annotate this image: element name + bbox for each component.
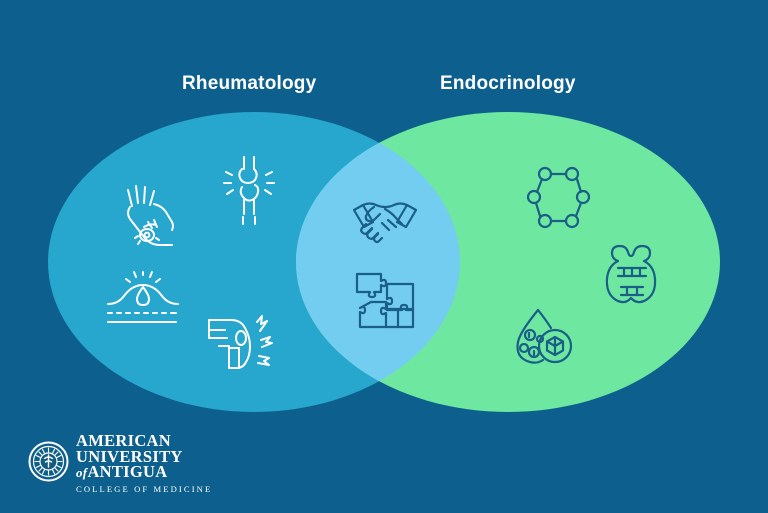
thyroid-gland-icon [605, 243, 659, 305]
aua-logo: AMERICAN UNIVERSITY ofANTIGUA COLLEGE OF… [28, 433, 212, 496]
logo-line-college: COLLEGE OF MEDICINE [76, 483, 212, 496]
logo-line-antigua: ofANTIGUA [76, 464, 212, 481]
aua-seal-icon [28, 441, 69, 487]
knee-bone-pain-icon [205, 312, 275, 374]
logo-of-word: of [76, 465, 87, 480]
arm-elbow-pain-icon [118, 178, 182, 248]
venn-diagram-canvas: Rheumatology Endocrinology [0, 0, 768, 513]
puzzle-pieces-icon [355, 272, 415, 330]
blood-glucose-drop-icon [512, 308, 574, 370]
handshake-icon [352, 198, 418, 244]
knee-joint-pain-icon [222, 155, 276, 227]
logo-antigua-word: ANTIGUA [87, 462, 167, 481]
skin-layers-icon [106, 272, 180, 328]
hormone-molecule-icon [528, 166, 590, 230]
